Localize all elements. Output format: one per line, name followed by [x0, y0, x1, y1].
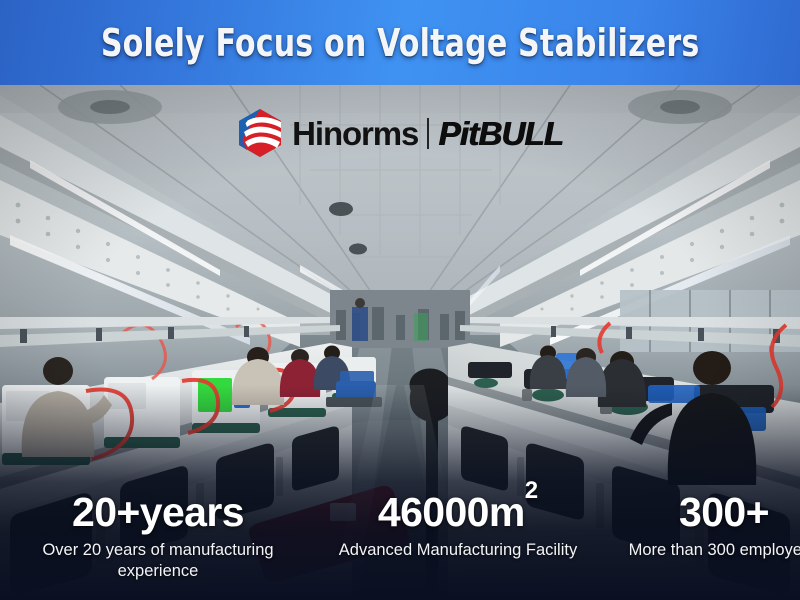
stat-value-area-number: 46000m [378, 489, 525, 535]
logo-wordmark: Hinorms PitBULL [292, 117, 563, 150]
promo-banner-page: Solely Focus on Voltage Stabilizers [0, 0, 800, 600]
stat-item-employees: 300+ More than 300 employees [600, 491, 800, 561]
stat-item-years: 20+years Over 20 years of manufacturing … [0, 491, 316, 582]
page-title: Solely Focus on Voltage Stabilizers [101, 24, 700, 62]
brand-logo: Hinorms PitBULL [0, 108, 800, 158]
stat-value-area: 46000m2 [324, 491, 592, 534]
stat-label-employees: More than 300 employees [608, 540, 800, 561]
stat-value-area-exponent: 2 [525, 477, 538, 504]
stat-value-employees: 300+ [608, 491, 800, 534]
stat-label-years: Over 20 years of manufacturing experienc… [8, 540, 308, 582]
logo-sub-brand-name: PitBULL [438, 117, 563, 150]
logo-separator [427, 118, 429, 149]
stat-item-area: 46000m2 Advanced Manufacturing Facility [316, 491, 600, 561]
hinorms-hexagon-logo-mark [237, 108, 283, 158]
header-banner: Solely Focus on Voltage Stabilizers [0, 0, 800, 85]
stat-value-years: 20+years [8, 491, 308, 534]
stat-label-area: Advanced Manufacturing Facility [324, 540, 592, 561]
logo-brand-name: Hinorms [292, 117, 418, 150]
stats-row: 20+years Over 20 years of manufacturing … [0, 491, 800, 582]
